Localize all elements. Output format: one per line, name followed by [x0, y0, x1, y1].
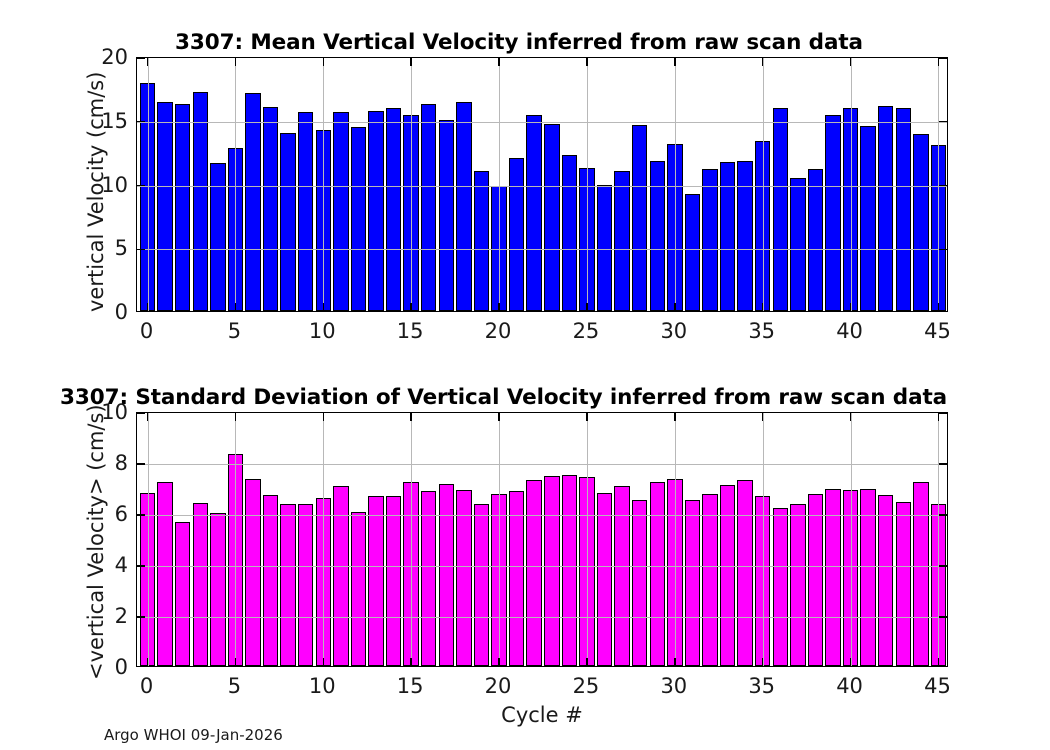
x-tick	[674, 413, 675, 421]
x-tick	[498, 303, 499, 311]
y-tick	[939, 616, 947, 617]
x-tick	[323, 413, 324, 421]
bar	[720, 162, 735, 311]
gridline-horizontal	[137, 186, 947, 187]
x-tick-label: 45	[924, 319, 951, 343]
x-tick	[938, 658, 939, 666]
bar	[351, 512, 366, 666]
bar-series-std	[137, 413, 947, 666]
chart-title-mean: 3307: Mean Vertical Velocity inferred fr…	[175, 30, 863, 55]
bar	[650, 482, 665, 666]
gridline-vertical	[411, 58, 412, 311]
bar	[913, 134, 928, 311]
x-tick	[147, 303, 148, 311]
x-tick	[410, 413, 411, 421]
y-tick-label: 10	[84, 400, 128, 424]
gridline-vertical	[148, 58, 149, 311]
y-tick-label: 0	[84, 655, 128, 679]
bar	[298, 112, 313, 311]
bar	[702, 169, 717, 311]
chart-title-std: 3307: Standard Deviation of Vertical Vel…	[60, 385, 947, 410]
x-tick	[674, 58, 675, 66]
bar	[368, 111, 383, 311]
x-tick	[674, 303, 675, 311]
x-tick	[498, 58, 499, 66]
y-tick	[137, 616, 145, 617]
gridline-vertical	[587, 413, 588, 666]
bar	[421, 491, 436, 666]
gridline-vertical	[851, 413, 852, 666]
y-tick	[939, 565, 947, 566]
x-tick	[938, 58, 939, 66]
y-tick-label: 8	[84, 451, 128, 475]
x-tick	[938, 413, 939, 421]
bar	[614, 486, 629, 666]
bar	[773, 108, 788, 311]
x-tick	[850, 413, 851, 421]
bar	[597, 493, 612, 666]
y-tick-label: 4	[84, 553, 128, 577]
y-tick	[137, 412, 145, 413]
bar	[878, 106, 893, 311]
gridline-horizontal	[137, 249, 947, 250]
x-tick	[674, 658, 675, 666]
x-axis-label-std: Cycle #	[501, 703, 583, 727]
x-tick	[235, 658, 236, 666]
bar	[245, 479, 260, 666]
x-tick	[323, 658, 324, 666]
bar	[878, 495, 893, 666]
y-tick-label: 5	[84, 236, 128, 260]
gridline-horizontal	[137, 566, 947, 567]
bar	[737, 161, 752, 311]
bar	[386, 496, 401, 666]
gridline-vertical	[938, 413, 939, 666]
x-tick	[850, 58, 851, 66]
gridline-vertical	[499, 58, 500, 311]
bar	[685, 500, 700, 666]
bar	[333, 112, 348, 311]
gridline-vertical	[851, 58, 852, 311]
plot-area-std	[136, 412, 948, 667]
bar	[368, 496, 383, 666]
gridline-vertical	[235, 58, 236, 311]
bar	[808, 169, 823, 311]
bar	[439, 484, 454, 666]
bar	[386, 108, 401, 311]
bar	[193, 92, 208, 311]
y-tick-label: 10	[84, 173, 128, 197]
x-tick	[410, 658, 411, 666]
x-tick	[850, 303, 851, 311]
x-tick-label: 35	[748, 319, 775, 343]
gridline-vertical	[411, 413, 412, 666]
x-tick-label: 0	[140, 674, 153, 698]
x-tick	[586, 658, 587, 666]
y-tick	[137, 185, 145, 186]
bar	[632, 500, 647, 666]
gridline-vertical	[148, 413, 149, 666]
x-tick	[323, 58, 324, 66]
bar	[562, 155, 577, 311]
bar	[474, 171, 489, 311]
x-tick	[410, 303, 411, 311]
bar	[456, 102, 471, 311]
bar	[825, 115, 840, 311]
bar	[263, 495, 278, 666]
x-tick	[147, 413, 148, 421]
plot-area-mean	[136, 57, 948, 312]
bar	[860, 126, 875, 311]
bar	[298, 504, 313, 666]
x-tick	[235, 58, 236, 66]
x-tick-label: 15	[397, 674, 424, 698]
x-tick-label: 45	[924, 674, 951, 698]
x-tick-label: 30	[660, 319, 687, 343]
bar	[544, 476, 559, 666]
bar	[175, 104, 190, 311]
y-tick	[137, 463, 145, 464]
y-axis-label-std: <vertical Velocity> (cm/s)	[84, 404, 108, 680]
gridline-vertical	[235, 413, 236, 666]
x-tick-label: 10	[309, 674, 336, 698]
bar	[509, 158, 524, 311]
bar	[896, 502, 911, 666]
bar	[685, 194, 700, 311]
bar	[210, 513, 225, 666]
bar	[614, 171, 629, 311]
x-tick	[762, 303, 763, 311]
x-tick	[235, 303, 236, 311]
bar	[333, 486, 348, 666]
x-tick	[762, 58, 763, 66]
x-tick-label: 20	[485, 319, 512, 343]
x-tick-label: 35	[748, 674, 775, 698]
gridline-vertical	[587, 58, 588, 311]
y-tick-label: 6	[84, 502, 128, 526]
bar	[562, 475, 577, 666]
bar	[737, 480, 752, 666]
y-tick	[939, 514, 947, 515]
bar	[720, 485, 735, 666]
bar	[263, 107, 278, 311]
x-tick	[586, 58, 587, 66]
gridline-vertical	[675, 58, 676, 311]
x-tick-label: 20	[485, 674, 512, 698]
x-tick-label: 30	[660, 674, 687, 698]
x-tick	[147, 658, 148, 666]
y-tick	[137, 121, 145, 122]
y-tick	[939, 463, 947, 464]
x-tick	[850, 658, 851, 666]
x-tick	[498, 658, 499, 666]
bar	[544, 124, 559, 311]
gridline-vertical	[675, 413, 676, 666]
y-tick	[137, 249, 145, 250]
x-tick-label: 5	[228, 674, 241, 698]
gridline-horizontal	[137, 122, 947, 123]
footer-credit: Argo WHOI 09-Jan-2026	[104, 726, 283, 744]
x-tick-label: 15	[397, 319, 424, 343]
y-tick	[939, 185, 947, 186]
bar	[526, 115, 541, 311]
x-tick	[762, 413, 763, 421]
y-tick-label: 2	[84, 604, 128, 628]
x-tick-label: 40	[836, 674, 863, 698]
bar	[597, 185, 612, 311]
bar	[193, 503, 208, 666]
gridline-horizontal	[137, 464, 947, 465]
bar	[280, 133, 295, 312]
gridline-vertical	[763, 58, 764, 311]
gridline-vertical	[323, 413, 324, 666]
bar	[280, 504, 295, 666]
bar	[790, 504, 805, 666]
x-tick-label: 40	[836, 319, 863, 343]
bar	[157, 482, 172, 666]
x-tick	[498, 413, 499, 421]
y-tick	[137, 565, 145, 566]
x-tick	[586, 303, 587, 311]
gridline-vertical	[323, 58, 324, 311]
x-tick	[938, 303, 939, 311]
x-tick-label: 10	[309, 319, 336, 343]
bar-series-mean	[137, 58, 947, 311]
gridline-horizontal	[137, 617, 947, 618]
x-tick	[410, 58, 411, 66]
gridline-vertical	[499, 413, 500, 666]
bar	[245, 93, 260, 311]
x-tick	[147, 58, 148, 66]
bar	[632, 125, 647, 311]
x-tick-label: 25	[573, 674, 600, 698]
y-tick	[137, 514, 145, 515]
bar	[439, 120, 454, 311]
y-tick	[137, 57, 145, 58]
bar	[790, 178, 805, 311]
y-tick	[939, 121, 947, 122]
y-tick	[939, 57, 947, 58]
x-tick-label: 5	[228, 319, 241, 343]
y-tick-label: 15	[84, 109, 128, 133]
gridline-vertical	[763, 413, 764, 666]
y-tick-label: 0	[84, 300, 128, 324]
bar	[896, 108, 911, 311]
bar	[175, 522, 190, 666]
x-tick	[586, 413, 587, 421]
y-tick	[939, 412, 947, 413]
bar	[157, 102, 172, 311]
bar	[474, 504, 489, 666]
bar	[773, 508, 788, 666]
gridline-horizontal	[137, 515, 947, 516]
x-tick-label: 25	[573, 319, 600, 343]
y-tick-label: 20	[84, 45, 128, 69]
bar	[526, 480, 541, 666]
bar	[456, 490, 471, 666]
x-tick-label: 0	[140, 319, 153, 343]
bar	[913, 482, 928, 666]
bar	[421, 104, 436, 311]
bar	[509, 491, 524, 666]
x-tick	[762, 658, 763, 666]
y-tick	[939, 249, 947, 250]
bar	[650, 161, 665, 311]
bar	[702, 494, 717, 666]
x-tick	[323, 303, 324, 311]
bar	[351, 127, 366, 311]
x-tick	[235, 413, 236, 421]
bar	[808, 494, 823, 666]
